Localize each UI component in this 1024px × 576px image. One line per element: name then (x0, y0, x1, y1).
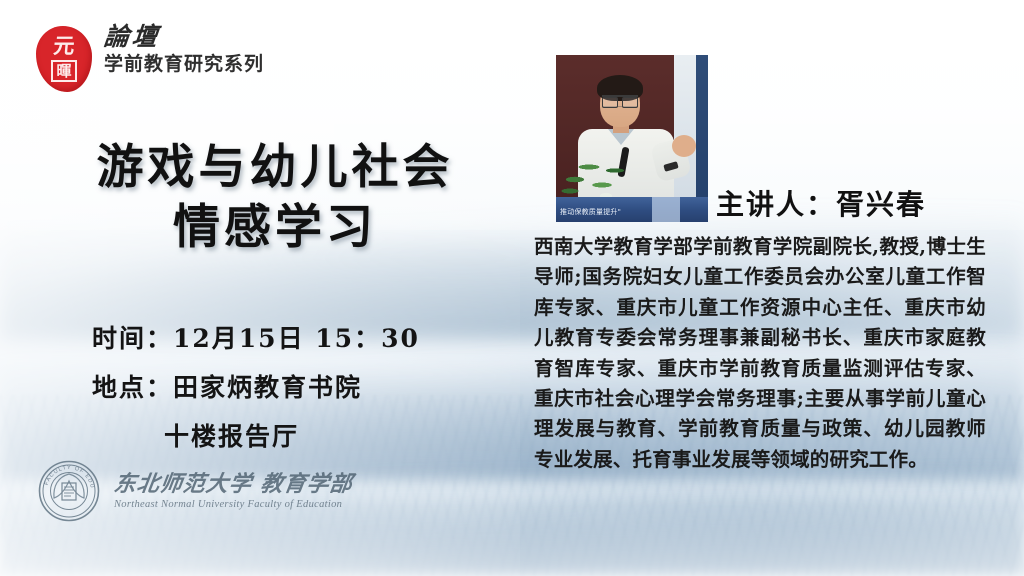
seal-stamp-icon: 元 暉 (36, 26, 92, 92)
forum-title: 論壇 (103, 24, 266, 50)
title-line-2: 情感学习 (60, 198, 490, 258)
university-name-block: 东北师范大学 教育学部 Northeast Normal University … (114, 472, 353, 510)
forum-header: 元 暉 論壇 学前教育研究系列 (36, 24, 264, 92)
seal-char-top: 元 (35, 35, 93, 56)
lecture-time: 时间：12月15日 15：30 (92, 315, 512, 364)
lecture-info: 时间：12月15日 15：30 地点：田家炳教育书院 十楼报告厅 (92, 315, 512, 461)
speaker-photo: 推动保教质量提升" (556, 55, 708, 222)
photo-podium-highlight (652, 197, 680, 222)
forum-header-text: 論壇 学前教育研究系列 (104, 24, 264, 75)
lecture-place: 地点：田家炳教育书院 (92, 364, 512, 413)
seal-char-bottom: 暉 (51, 60, 77, 82)
university-emblem-icon: FACULTY OF EDUCATION (38, 460, 100, 522)
university-name-en: Northeast Normal University Faculty of E… (114, 499, 353, 510)
photo-podium-caption: 推动保教质量提升" (560, 207, 621, 217)
speaker-name: 主讲人：胥兴春 (716, 183, 926, 223)
university-name-cn: 东北师范大学 教育学部 (112, 472, 354, 496)
lecture-poster: 元 暉 論壇 学前教育研究系列 游戏与幼儿社会 情感学习 时间：12月15日 1… (0, 0, 1024, 576)
lecture-place-detail: 十楼报告厅 (92, 413, 512, 462)
series-subtitle: 学前教育研究系列 (104, 54, 264, 75)
title-line-1: 游戏与幼儿社会 (60, 138, 490, 198)
photo-hand (672, 135, 696, 157)
university-logo: FACULTY OF EDUCATION 东北师范大学 教育学部 Northea… (38, 460, 353, 522)
speaker-biography: 西南大学教育学部学前教育学院副院长,教授,博士生导师;国务院妇女儿童工作委员会办… (534, 232, 986, 475)
lecture-title: 游戏与幼儿社会 情感学习 (60, 138, 490, 258)
photo-glasses-icon (602, 95, 638, 107)
